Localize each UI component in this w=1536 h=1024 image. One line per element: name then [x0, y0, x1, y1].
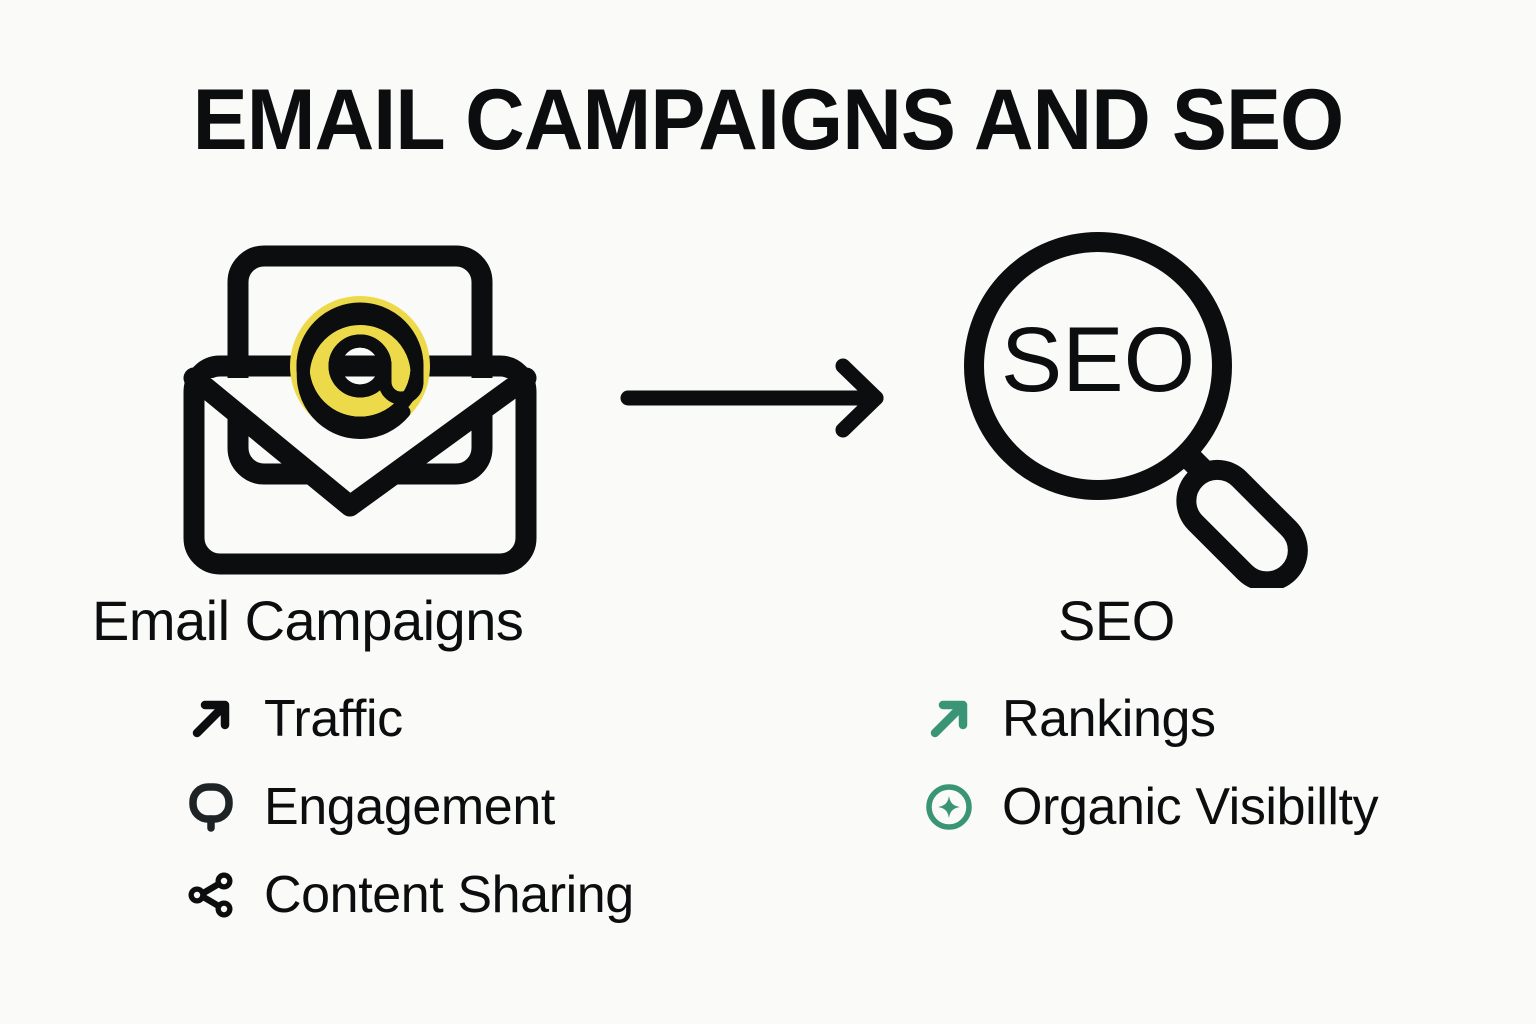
- list-item-label: Content Sharing: [264, 866, 634, 924]
- arrow-up-right-icon: [922, 692, 976, 746]
- open-envelope-with-at-symbol-icon: [180, 238, 540, 583]
- list-item: Organic Visibillty: [922, 776, 1500, 838]
- seo-column: SEO SEO Rankings Organic Visibillty: [900, 228, 1500, 838]
- list-item: Engagement: [184, 776, 672, 838]
- magnifier-seo-text: SEO: [1001, 309, 1195, 411]
- arrow-right-icon: [618, 358, 898, 443]
- magnifying-glass-seo-icon: SEO: [958, 228, 1318, 593]
- list-item-label: Rankings: [1002, 690, 1216, 748]
- list-item: Traffic: [184, 688, 672, 750]
- sparkle-in-circle-icon: [922, 780, 976, 834]
- engagement-pin-icon: [184, 780, 238, 834]
- share-nodes-icon: [184, 868, 238, 922]
- arrow-up-right-icon: [184, 692, 238, 746]
- list-item-label: Engagement: [264, 778, 555, 836]
- list-item: Content Sharing: [184, 864, 672, 926]
- seo-icon-stage: SEO: [900, 228, 1500, 580]
- email-campaigns-benefit-list: Traffic Engagement: [72, 688, 672, 926]
- section-heading-seo: SEO: [900, 590, 1500, 652]
- list-item-label: Traffic: [264, 690, 403, 748]
- list-item: Rankings: [922, 688, 1500, 750]
- section-heading-email-campaigns: Email Campaigns: [72, 590, 672, 652]
- email-campaigns-icon-stage: [72, 228, 672, 580]
- page-title: EMAIL CAMPAIGNS AND SEO: [31, 72, 1506, 168]
- seo-benefit-list: Rankings Organic Visibillty: [900, 688, 1500, 838]
- list-item-label: Organic Visibillty: [1002, 778, 1378, 836]
- email-campaigns-column: Email Campaigns Traffic Engagement: [72, 228, 672, 926]
